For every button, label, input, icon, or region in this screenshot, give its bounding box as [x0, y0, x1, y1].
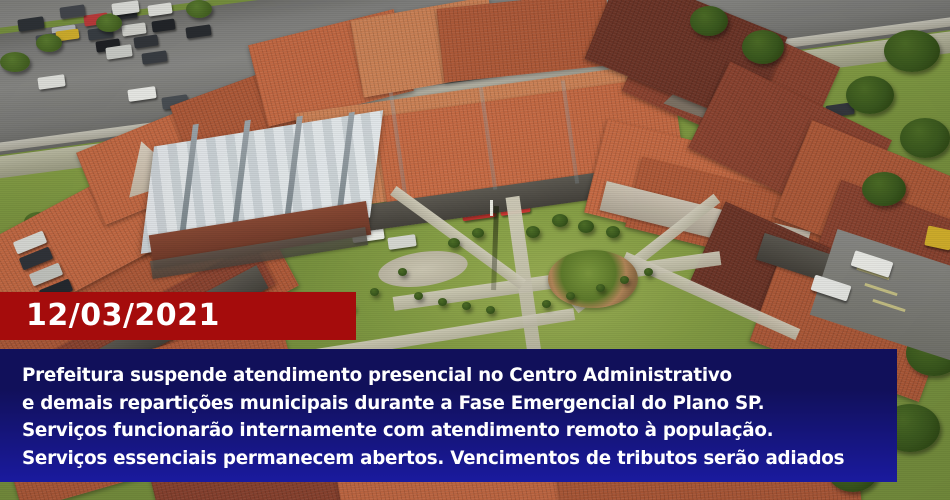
headline-line-3: Serviços funcionarão internamente com at…	[22, 417, 897, 445]
news-banner: 12/03/2021 Prefeitura suspende atendimen…	[0, 0, 950, 500]
headline-line-4: Serviços essenciais permanecem abertos. …	[22, 445, 897, 473]
date-text: 12/03/2021	[26, 301, 220, 331]
headline-line-1: Prefeitura suspende atendimento presenci…	[22, 362, 897, 390]
headline-line-2: e demais repartições municipais durante …	[22, 390, 897, 418]
date-badge: 12/03/2021	[0, 292, 356, 340]
headline-block: Prefeitura suspende atendimento presenci…	[0, 349, 897, 482]
